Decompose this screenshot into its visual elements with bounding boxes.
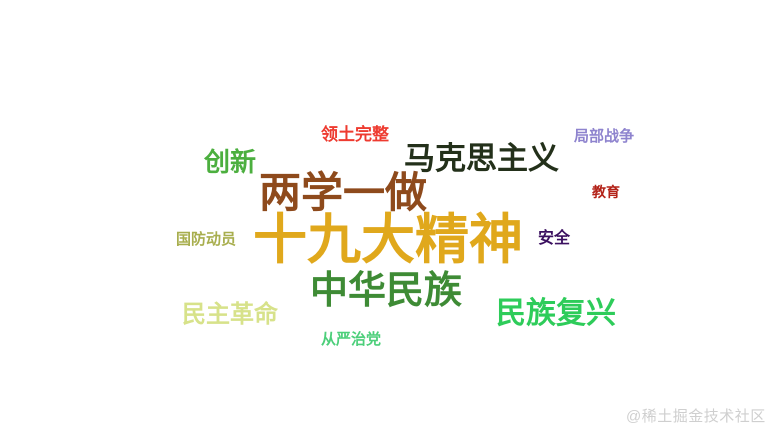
watermark-label: @稀土掘金技术社区 [626, 409, 766, 424]
wordcloud-chart: 十九大精神两学一做中华民族马克思主义民族复兴创新民主革命领土完整局部战争国防动员… [0, 0, 782, 446]
wordcloud-word: 创新 [204, 149, 256, 175]
wordcloud-word: 领土完整 [321, 126, 389, 143]
wordcloud-word: 民族复兴 [496, 299, 616, 329]
wordcloud-word: 两学一做 [259, 172, 427, 214]
wordcloud-word: 国防动员 [176, 232, 236, 247]
wordcloud-word: 教育 [592, 185, 620, 199]
wordcloud-word: 从严治党 [321, 332, 381, 347]
wordcloud-word: 马克思主义 [404, 143, 559, 174]
wordcloud-word: 民主革命 [182, 303, 278, 327]
wordcloud-word: 十九大精神 [253, 213, 523, 267]
wordcloud-word: 局部战争 [574, 129, 634, 144]
wordcloud-word: 中华民族 [310, 272, 462, 310]
wordcloud-word: 安全 [538, 231, 570, 247]
